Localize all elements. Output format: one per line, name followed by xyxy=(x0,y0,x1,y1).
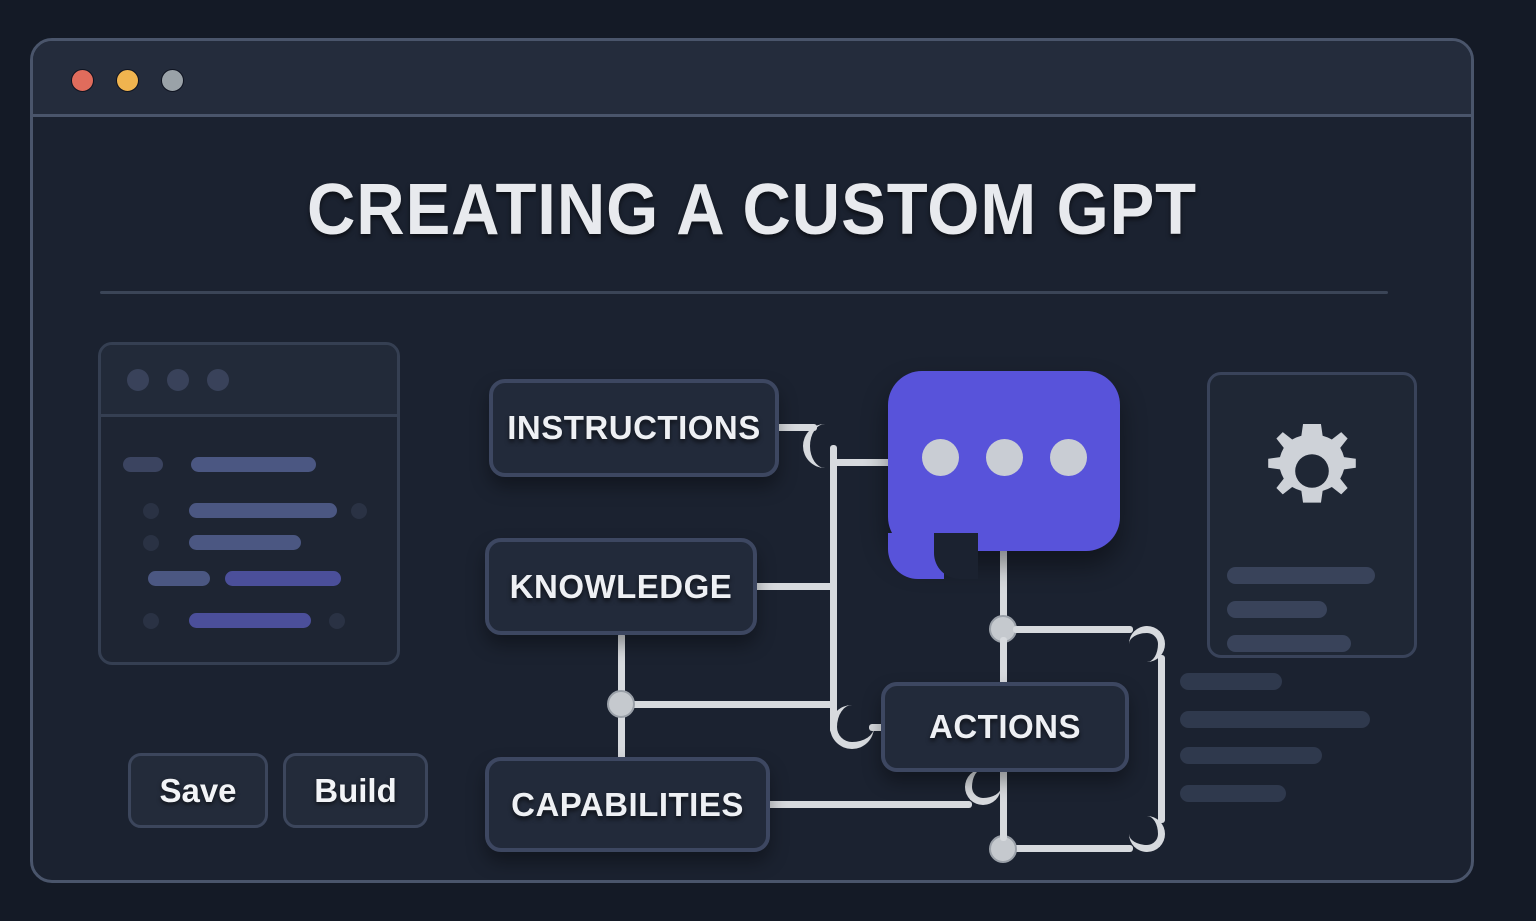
typing-dots xyxy=(888,439,1120,476)
typing-dot xyxy=(922,439,959,476)
node-actions[interactable]: ACTIONS xyxy=(881,682,1129,772)
maximize-button-icon[interactable] xyxy=(161,69,184,92)
wire-loop-corner-bottom xyxy=(1129,816,1165,852)
traffic-light-group xyxy=(71,69,184,92)
chat-bubble-tail xyxy=(888,533,944,579)
code-bullet-icon xyxy=(143,535,159,551)
code-line xyxy=(101,535,397,553)
code-preview-body xyxy=(101,417,397,662)
screenshot-root: CREATING A CUSTOM GPT xyxy=(0,0,1536,921)
settings-panel xyxy=(1207,372,1417,658)
settings-placeholder-bar xyxy=(1227,635,1351,652)
code-bullet-icon xyxy=(143,503,159,519)
code-token xyxy=(189,503,337,518)
content-placeholder-bar xyxy=(1180,785,1286,802)
minimize-button-icon[interactable] xyxy=(116,69,139,92)
code-preview-panel xyxy=(98,342,400,665)
wire-actions-down xyxy=(1000,769,1007,841)
typing-dot xyxy=(1050,439,1087,476)
code-token xyxy=(148,571,210,586)
wire-capabilities-right xyxy=(766,801,972,808)
wire-loop-top xyxy=(1013,626,1133,633)
junction-dot xyxy=(607,690,635,718)
code-token xyxy=(225,571,341,586)
code-window-dot xyxy=(167,369,189,391)
title-divider xyxy=(100,291,1388,294)
app-window: CREATING A CUSTOM GPT xyxy=(30,38,1474,883)
code-window-dot xyxy=(207,369,229,391)
wire-junction-to-actions xyxy=(1000,637,1007,687)
gear-icon[interactable] xyxy=(1256,415,1368,532)
save-button[interactable]: Save xyxy=(128,753,268,828)
code-line xyxy=(101,613,397,631)
wire-loop-bottom xyxy=(1013,845,1133,852)
code-window-dot xyxy=(127,369,149,391)
content-placeholder-bar xyxy=(1180,747,1322,764)
chat-bubble-icon[interactable] xyxy=(888,371,1120,551)
code-token xyxy=(189,535,301,550)
code-token xyxy=(189,613,311,628)
wire-knowledge-to-bus xyxy=(753,583,835,590)
code-line xyxy=(101,503,397,521)
node-knowledge[interactable]: KNOWLEDGE xyxy=(485,538,757,635)
code-token xyxy=(123,457,163,472)
typing-dot xyxy=(986,439,1023,476)
content-placeholder-bar xyxy=(1180,673,1282,690)
wire-loop-right xyxy=(1158,655,1165,823)
content-placeholder-bar xyxy=(1180,711,1370,728)
settings-placeholder-bar xyxy=(1227,601,1327,618)
node-instructions[interactable]: INSTRUCTIONS xyxy=(489,379,779,477)
wire-junction-to-bus xyxy=(625,701,835,708)
code-line xyxy=(101,571,397,589)
code-bullet-icon xyxy=(329,613,345,629)
node-capabilities[interactable]: CAPABILITIES xyxy=(485,757,770,852)
settings-placeholder-bar xyxy=(1227,567,1375,584)
code-line xyxy=(101,457,397,475)
code-bullet-icon xyxy=(143,613,159,629)
page-title: CREATING A CUSTOM GPT xyxy=(83,169,1420,251)
code-preview-titlebar xyxy=(101,345,397,417)
close-button-icon[interactable] xyxy=(71,69,94,92)
window-titlebar xyxy=(33,41,1471,117)
build-button[interactable]: Build xyxy=(283,753,428,828)
wire-elbow-capabilities xyxy=(965,769,1001,805)
wire-elbow-bus-to-actions xyxy=(830,705,874,749)
wire-bus-to-bubble xyxy=(833,459,891,466)
code-token xyxy=(191,457,316,472)
code-bullet-icon xyxy=(351,503,367,519)
